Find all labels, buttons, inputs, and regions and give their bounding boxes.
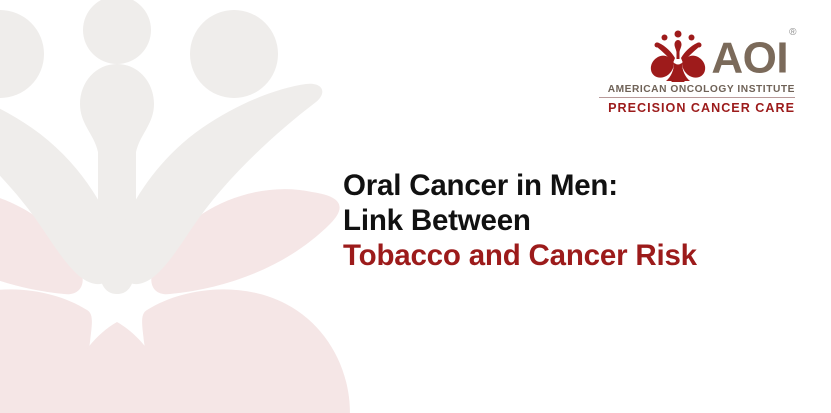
- logo-divider: [599, 97, 795, 98]
- logo-wordmark: AOI®: [711, 32, 795, 82]
- headline-line-2: Link Between: [343, 203, 697, 238]
- aoi-logo: AOI® AMERICAN ONCOLOGY INSTITUTE PRECISI…: [599, 30, 795, 115]
- logo-wordmark-text: AOI: [711, 34, 788, 83]
- logo-institute-name: AMERICAN ONCOLOGY INSTITUTE: [608, 84, 795, 95]
- hibiscus-watermark: [0, 0, 352, 413]
- logo-tagline: PRECISION CANCER CARE: [608, 101, 795, 115]
- page-title: Oral Cancer in Men: Link Between Tobacco…: [343, 168, 697, 273]
- watermark-stamens: [0, 0, 322, 294]
- watermark-petals: [0, 189, 350, 413]
- promo-banner: AOI® AMERICAN ONCOLOGY INSTITUTE PRECISI…: [0, 0, 831, 413]
- logo-primary-row: AOI®: [649, 30, 795, 82]
- headline-line-3: Tobacco and Cancer Risk: [343, 238, 697, 273]
- hibiscus-logo-mark-icon: [649, 30, 707, 82]
- registered-trademark-icon: ®: [789, 27, 796, 38]
- headline-line-1: Oral Cancer in Men:: [343, 168, 697, 203]
